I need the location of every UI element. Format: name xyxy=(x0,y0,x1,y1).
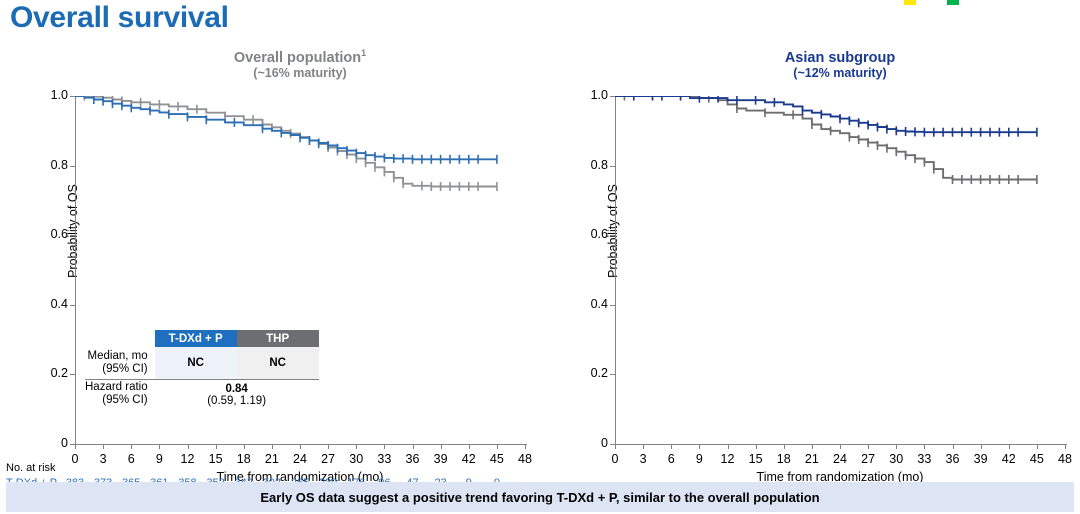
x-tick-mark xyxy=(784,444,785,449)
x-tick-label: 0 xyxy=(60,452,90,466)
x-tick-label: 3 xyxy=(88,452,118,466)
x-tick-label: 39 xyxy=(966,452,996,466)
panel-title-text: Overall population xyxy=(234,50,361,66)
x-tick-mark xyxy=(384,444,385,449)
x-tick-mark xyxy=(469,444,470,449)
x-tick-label: 30 xyxy=(341,452,371,466)
x-tick-mark xyxy=(131,444,132,449)
x-tick-mark xyxy=(699,444,700,449)
x-tick-label: 45 xyxy=(1022,452,1052,466)
stats-median-arm-a: NC xyxy=(155,347,237,379)
x-axis-line xyxy=(615,444,1067,445)
x-tick-mark xyxy=(868,444,869,449)
panel-asian-subgroup: Asian subgroup (~12% maturity) Probabili… xyxy=(540,44,1080,478)
x-tick-mark xyxy=(812,444,813,449)
x-tick-mark xyxy=(981,444,982,449)
censor-marks xyxy=(84,96,497,191)
x-tick-label: 21 xyxy=(257,452,287,466)
x-tick-mark xyxy=(728,444,729,449)
x-tick-mark xyxy=(413,444,414,449)
km-curve xyxy=(615,96,1037,132)
slide-root: Overall survival Overall population1 (~1… xyxy=(0,0,1080,514)
x-tick-label: 27 xyxy=(853,452,883,466)
x-tick-label: 42 xyxy=(454,452,484,466)
x-tick-label: 9 xyxy=(684,452,714,466)
x-tick-label: 21 xyxy=(797,452,827,466)
x-tick-mark xyxy=(924,444,925,449)
stats-table-overall: T-DXd + P THP Median, mo (95% CI) NC NC … xyxy=(85,330,319,407)
x-tick-label: 36 xyxy=(938,452,968,466)
y-tick-label: 0.4 xyxy=(35,297,75,311)
x-tick-mark xyxy=(356,444,357,449)
y-tick-label: 1.0 xyxy=(35,88,75,102)
panel-title: Overall population1 xyxy=(0,48,540,66)
x-tick-label: 18 xyxy=(769,452,799,466)
x-tick-mark xyxy=(103,444,104,449)
x-tick-mark xyxy=(300,444,301,449)
x-tick-mark xyxy=(671,444,672,449)
green-chip xyxy=(947,0,959,5)
panel-title-superscript: 1 xyxy=(361,48,366,58)
y-tick-label: 0.4 xyxy=(575,297,615,311)
x-tick-label: 24 xyxy=(825,452,855,466)
x-tick-mark xyxy=(188,444,189,449)
panel-subtitle: (~16% maturity) xyxy=(0,66,540,80)
stats-header-arm-b: THP xyxy=(237,330,319,347)
stats-row-median-label: Median, mo (95% CI) xyxy=(85,347,155,379)
x-tick-mark xyxy=(75,444,76,449)
x-tick-mark xyxy=(497,444,498,449)
plot-area-asian: Probability of OS 1.00.80.60.40.20 03691… xyxy=(615,96,1065,444)
km-curve xyxy=(615,96,1037,180)
x-tick-label: 18 xyxy=(229,452,259,466)
y-tick-label: 0.6 xyxy=(575,227,615,241)
stats-row-hazard-label: Hazard ratio (95% CI) xyxy=(85,381,155,407)
x-tick-mark xyxy=(525,444,526,449)
x-tick-label: 33 xyxy=(369,452,399,466)
censor-marks xyxy=(624,96,1037,184)
x-tick-mark xyxy=(441,444,442,449)
stats-median-arm-b: NC xyxy=(237,347,319,379)
page-title: Overall survival xyxy=(10,1,229,35)
risk-table-title: No. at risk xyxy=(6,462,56,474)
x-tick-label: 30 xyxy=(881,452,911,466)
x-tick-label: 0 xyxy=(600,452,630,466)
y-tick-label: 0.8 xyxy=(35,158,75,172)
y-tick-label: 1.0 xyxy=(575,88,615,102)
x-tick-label: 15 xyxy=(741,452,771,466)
panel-overall-population: Overall population1 (~16% maturity) Prob… xyxy=(0,44,540,478)
hazard-ratio-ci: (0.59, 1.19) xyxy=(155,395,319,407)
x-tick-label: 6 xyxy=(656,452,686,466)
yellow-chip xyxy=(904,0,916,5)
y-tick-label: 0.2 xyxy=(35,366,75,380)
x-tick-label: 24 xyxy=(285,452,315,466)
x-tick-label: 6 xyxy=(116,452,146,466)
x-tick-mark xyxy=(840,444,841,449)
x-tick-label: 48 xyxy=(510,452,540,466)
x-tick-mark xyxy=(244,444,245,449)
x-tick-label: 27 xyxy=(313,452,343,466)
y-tick-label: 0.6 xyxy=(35,227,75,241)
x-tick-mark xyxy=(272,444,273,449)
x-tick-mark xyxy=(328,444,329,449)
panel-subtitle: (~12% maturity) xyxy=(540,66,1080,80)
x-tick-label: 48 xyxy=(1050,452,1080,466)
summary-banner: Early OS data suggest a positive trend f… xyxy=(6,482,1074,512)
x-tick-mark xyxy=(953,444,954,449)
x-tick-mark xyxy=(615,444,616,449)
x-tick-mark xyxy=(1065,444,1066,449)
x-tick-mark xyxy=(159,444,160,449)
x-tick-mark xyxy=(1009,444,1010,449)
x-tick-label: 15 xyxy=(201,452,231,466)
x-tick-label: 45 xyxy=(482,452,512,466)
x-tick-mark xyxy=(896,444,897,449)
stats-header-arm-a: T-DXd + P xyxy=(155,330,237,347)
y-tick-label: 0 xyxy=(35,436,75,450)
x-tick-mark xyxy=(643,444,644,449)
km-curves-asian xyxy=(615,96,1065,444)
y-tick-label: 0 xyxy=(575,436,615,450)
x-tick-label: 39 xyxy=(426,452,456,466)
x-tick-label: 36 xyxy=(398,452,428,466)
x-tick-mark xyxy=(1037,444,1038,449)
x-tick-label: 9 xyxy=(144,452,174,466)
panel-title-text: Asian subgroup xyxy=(785,50,895,66)
stats-hazard-value: 0.84 (0.59, 1.19) xyxy=(155,381,319,407)
censor-marks xyxy=(94,96,497,164)
hazard-ratio-value: 0.84 xyxy=(155,381,319,395)
x-tick-mark xyxy=(756,444,757,449)
x-axis-line xyxy=(75,444,527,445)
y-tick-label: 0.8 xyxy=(575,158,615,172)
panel-title: Asian subgroup xyxy=(540,48,1080,66)
y-tick-label: 0.2 xyxy=(575,366,615,380)
km-curve xyxy=(75,96,497,187)
x-tick-label: 42 xyxy=(994,452,1024,466)
x-tick-mark xyxy=(216,444,217,449)
km-curve xyxy=(75,96,497,159)
x-tick-label: 3 xyxy=(628,452,658,466)
x-tick-label: 33 xyxy=(909,452,939,466)
x-tick-label: 12 xyxy=(713,452,743,466)
x-tick-label: 12 xyxy=(173,452,203,466)
